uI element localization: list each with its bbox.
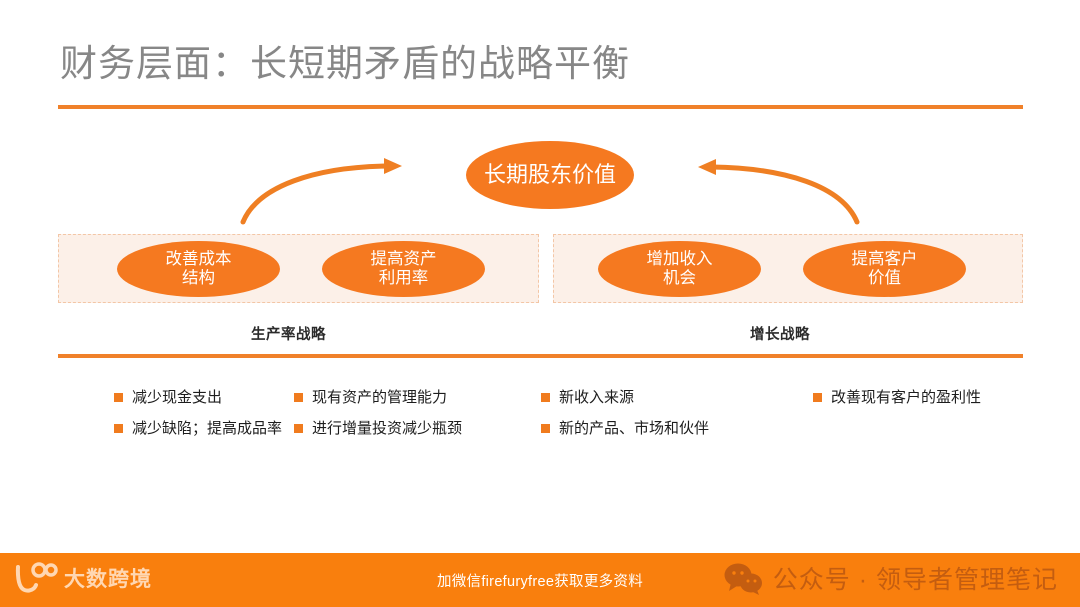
list-item-label: 进行增量投资减少瓶颈	[312, 421, 462, 438]
node-label-line2: 结构	[182, 269, 215, 287]
node-label-line2: 机会	[663, 269, 696, 287]
bullet-column-1: 减少现金支出 减少缺陷；提高成品率	[58, 390, 286, 437]
page-title: 财务层面：长短期矛盾的战略平衡	[60, 33, 630, 87]
square-bullet-icon	[813, 393, 822, 402]
footer-account-info[interactable]: 公众号 · 领导者管理笔记	[723, 560, 1058, 596]
node-label-line1: 提高资产	[371, 250, 437, 268]
node-label-line2: 利用率	[379, 269, 429, 287]
strategy-label-productivity: 生产率战略	[251, 323, 326, 344]
list-item: 减少缺陷；提高成品率	[114, 421, 286, 438]
node-improve-cost-structure[interactable]: 改善成本 结构	[117, 241, 280, 297]
square-bullet-icon	[114, 393, 123, 402]
square-bullet-icon	[294, 424, 303, 433]
bullet-column-3: 新收入来源 新的产品、市场和伙伴	[523, 390, 757, 437]
list-item: 改善现有客户的盈利性	[813, 390, 1023, 407]
node-label-line1: 提高客户	[852, 250, 918, 268]
slide-canvas: 财务层面：长短期矛盾的战略平衡 长期股东价值 改善成本 结构 提高资产 利用率	[0, 0, 1080, 607]
node-increase-revenue-opportunities[interactable]: 增加收入 机会	[598, 241, 761, 297]
node-label-line2: 价值	[868, 269, 901, 287]
arrow-layer	[0, 0, 1080, 607]
footer-account-name: 公众号 · 领导者管理笔记	[773, 560, 1058, 596]
section-divider-rule	[58, 354, 1023, 358]
square-bullet-icon	[541, 393, 550, 402]
list-item-label: 新收入来源	[559, 390, 634, 407]
node-label-line1: 增加收入	[647, 250, 713, 268]
node-label: 改善成本 结构	[166, 250, 232, 289]
node-label: 提高资产 利用率	[371, 250, 437, 289]
node-increase-customer-value[interactable]: 提高客户 价值	[803, 241, 966, 297]
strategy-label-growth: 增长战略	[750, 323, 810, 344]
list-item: 进行增量投资减少瓶颈	[294, 421, 523, 438]
footer-bar: 大数跨境 加微信firefuryfree获取更多资料 公众号 · 领导者管理笔记	[0, 553, 1080, 607]
goal-node-long-term-shareholder-value[interactable]: 长期股东价值	[466, 141, 634, 209]
square-bullet-icon	[541, 424, 550, 433]
list-item: 新收入来源	[541, 390, 757, 407]
wechat-icon	[723, 562, 763, 595]
list-item-label: 减少缺陷；提高成品率	[132, 421, 282, 438]
list-item-label: 新的产品、市场和伙伴	[559, 421, 709, 438]
curved-arrow-left-to-goal	[243, 158, 402, 222]
node-label: 增加收入 机会	[647, 250, 713, 289]
curved-arrow-right-to-goal	[698, 159, 857, 222]
list-item-label: 减少现金支出	[132, 390, 222, 407]
list-item-label: 现有资产的管理能力	[312, 390, 447, 407]
title-divider-rule	[58, 105, 1023, 109]
node-label: 提高客户 价值	[852, 250, 918, 289]
list-item-label: 改善现有客户的盈利性	[831, 390, 981, 407]
list-item: 新的产品、市场和伙伴	[541, 421, 757, 438]
list-item: 现有资产的管理能力	[294, 390, 523, 407]
node-increase-asset-utilization[interactable]: 提高资产 利用率	[322, 241, 485, 297]
node-label-line1: 改善成本	[166, 250, 232, 268]
square-bullet-icon	[114, 424, 123, 433]
bullet-column-4: 改善现有客户的盈利性	[757, 390, 1023, 437]
square-bullet-icon	[294, 393, 303, 402]
goal-node-label: 长期股东价值	[484, 162, 616, 188]
bullet-column-2: 现有资产的管理能力 进行增量投资减少瓶颈	[286, 390, 523, 437]
list-item: 减少现金支出	[114, 390, 286, 407]
bullet-columns: 减少现金支出 减少缺陷；提高成品率 现有资产的管理能力 进行增量投资减少瓶颈 新…	[58, 390, 1023, 437]
